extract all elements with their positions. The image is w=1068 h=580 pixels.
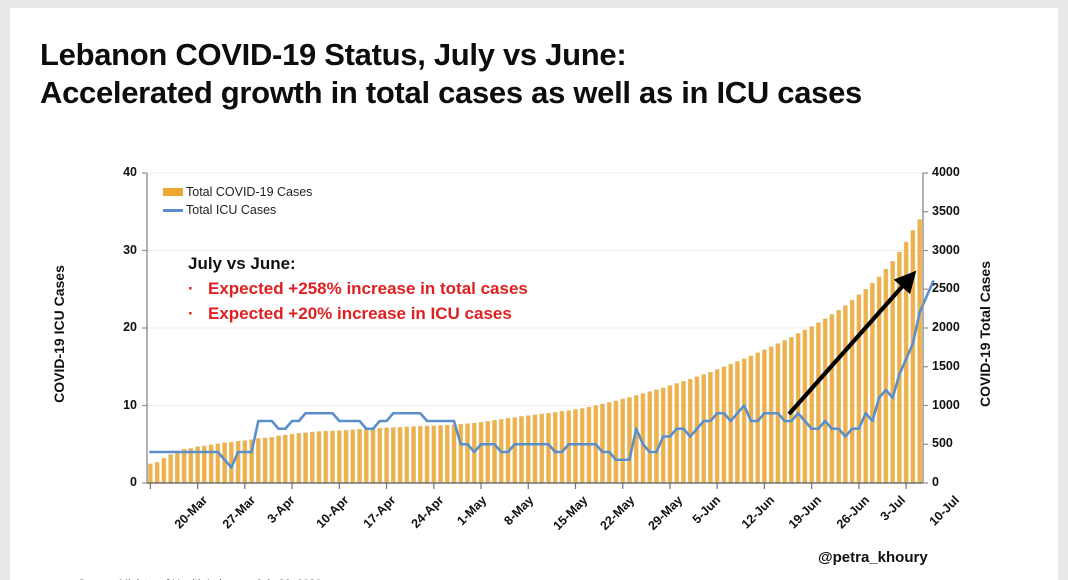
legend-label-total-cases: Total COVID-19 Cases bbox=[186, 185, 312, 199]
twitter-handle: @petra_khoury bbox=[818, 549, 928, 566]
y-left-tick-40: 40 bbox=[97, 165, 137, 179]
chart-svg bbox=[10, 8, 1058, 580]
y-right-tick-2500: 2500 bbox=[932, 281, 976, 295]
y-right-tick-2000: 2000 bbox=[932, 320, 976, 334]
y-right-tick-3000: 3000 bbox=[932, 243, 976, 257]
annotation-bullet-2-text: Expected +20% increase in ICU cases bbox=[208, 302, 512, 325]
legend-label-icu-cases: Total ICU Cases bbox=[186, 203, 276, 217]
annotation-bullet-2: · Expected +20% increase in ICU cases bbox=[188, 302, 528, 325]
y-axis-right-ticks bbox=[923, 173, 928, 483]
y-axis-left-ticks bbox=[142, 173, 147, 483]
y-left-tick-10: 10 bbox=[97, 398, 137, 412]
legend-item-icu-cases: Total ICU Cases bbox=[163, 202, 312, 218]
legend-bar-swatch-icon bbox=[163, 188, 183, 196]
covid-chart: COVID-19 ICU Cases COVID-19 Total Cases … bbox=[10, 8, 1058, 580]
y-left-tick-0: 0 bbox=[97, 475, 137, 489]
annotation-heading: July vs June: bbox=[188, 254, 528, 274]
slide-card: Lebanon COVID-19 Status, July vs June: A… bbox=[10, 8, 1058, 580]
y-axis-right-title: COVID-19 Total Cases bbox=[977, 239, 993, 429]
bullet-dot-icon: · bbox=[188, 277, 208, 300]
annotation-bullet-1: · Expected +258% increase in total cases bbox=[188, 277, 528, 300]
y-right-tick-0: 0 bbox=[932, 475, 976, 489]
chart-annotation: July vs June: · Expected +258% increase … bbox=[188, 254, 528, 327]
y-left-tick-30: 30 bbox=[97, 243, 137, 257]
y-right-tick-1500: 1500 bbox=[932, 359, 976, 373]
y-right-tick-1000: 1000 bbox=[932, 398, 976, 412]
legend-item-total-cases: Total COVID-19 Cases bbox=[163, 184, 312, 200]
y-axis-left-title: COVID-19 ICU Cases bbox=[51, 239, 67, 429]
annotation-bullet-1-text: Expected +258% increase in total cases bbox=[208, 277, 528, 300]
x-axis-ticks bbox=[150, 483, 906, 489]
legend-line-swatch-icon bbox=[163, 209, 183, 212]
chart-legend: Total COVID-19 Cases Total ICU Cases bbox=[163, 184, 312, 220]
y-left-tick-20: 20 bbox=[97, 320, 137, 334]
y-right-tick-4000: 4000 bbox=[932, 165, 976, 179]
y-right-tick-500: 500 bbox=[932, 436, 976, 450]
bullet-dot-icon: · bbox=[188, 302, 208, 325]
y-right-tick-3500: 3500 bbox=[932, 204, 976, 218]
